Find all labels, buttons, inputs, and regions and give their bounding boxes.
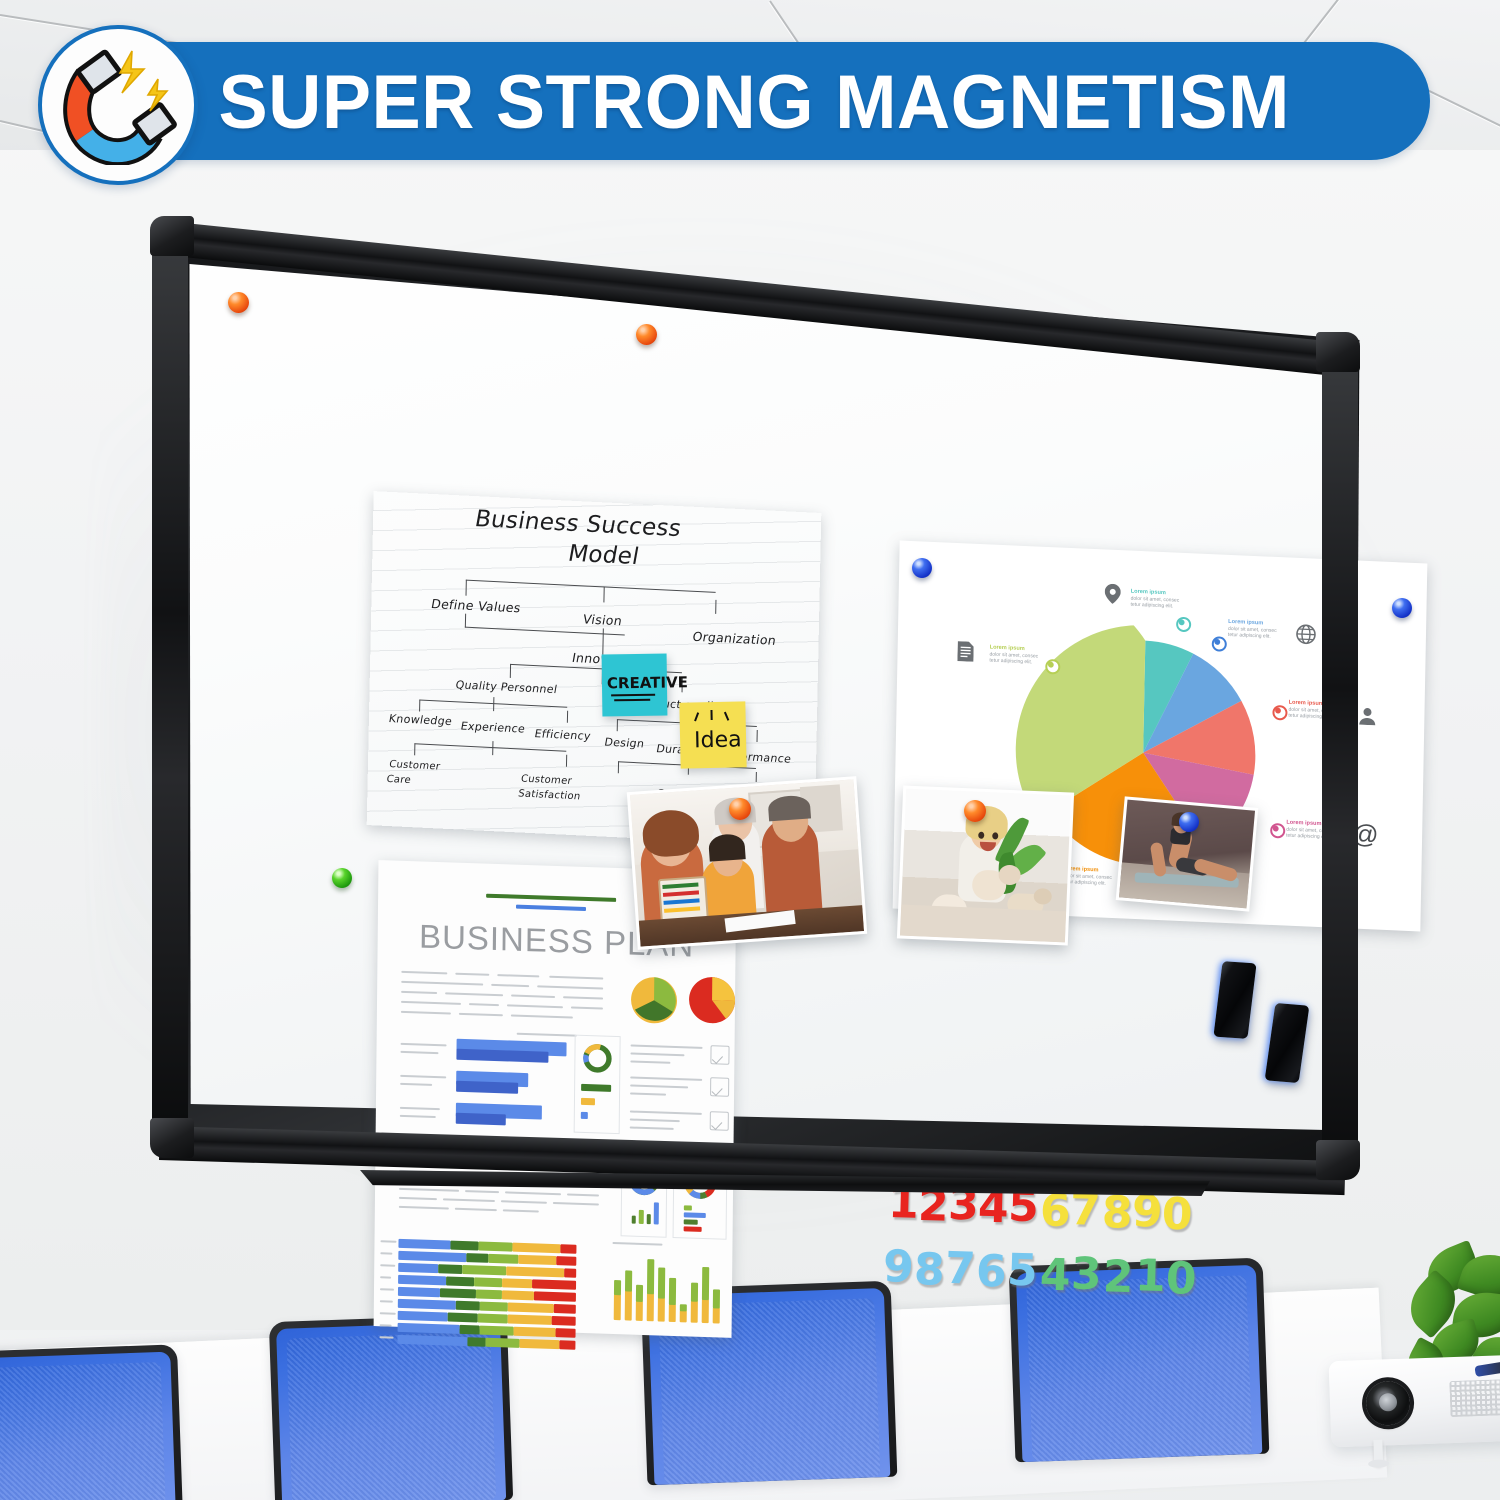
map-pin-icon <box>1105 583 1121 604</box>
idea-spark-2 <box>710 710 712 720</box>
magnetic-number-row2-5[interactable]: 4 <box>1039 1250 1071 1302</box>
projector-cable <box>1474 1356 1500 1377</box>
frame-corner-bl <box>150 1118 194 1158</box>
node-design: Design <box>603 736 645 751</box>
pie-dot-4 <box>1270 823 1285 839</box>
note-title-line2: Model <box>566 541 641 570</box>
checkbox-3[interactable] <box>710 1111 729 1131</box>
magnetic-number-row2-0[interactable]: 9 <box>882 1241 914 1293</box>
magnetic-number-row2-4[interactable]: 5 <box>1006 1245 1038 1297</box>
magnet-badge <box>38 25 198 185</box>
frame-corner-tl <box>150 216 194 256</box>
sticky-note-idea-text: Idea <box>694 727 742 753</box>
idea-spark-1 <box>694 712 699 721</box>
sticky-note-underline-2 <box>614 699 650 701</box>
node-customer-satisfaction-1: Customer Satisfaction <box>517 773 590 805</box>
plan-rule-blue <box>516 905 586 911</box>
projector-foot <box>1373 1440 1383 1466</box>
magnetic-number-row2-6[interactable]: 3 <box>1070 1248 1102 1300</box>
node-organization: Organization <box>691 629 777 648</box>
frame-corner-tr <box>1316 332 1360 372</box>
magnetic-number-row2-1[interactable]: 8 <box>913 1244 945 1296</box>
plan-pie-green <box>629 974 680 1026</box>
magnetic-number-row2-3[interactable]: 6 <box>975 1246 1007 1298</box>
pie-label-6: Lorem ipsum dolor sit amet, consec tetur… <box>989 645 1081 669</box>
node-efficiency: Efficiency <box>533 727 591 743</box>
product-marketing-image: SUPER STRONG MAGNETISM Business Success … <box>0 0 1500 1500</box>
node-knowledge: Knowledge <box>388 712 453 728</box>
magnetic-number-row2-9[interactable]: 0 <box>1165 1253 1197 1305</box>
magnetic-number-row1-9[interactable]: 0 <box>1161 1189 1193 1241</box>
frame-corner-br <box>1316 1140 1360 1180</box>
sticky-note-idea[interactable]: Idea <box>679 701 746 768</box>
magnet-orange-note-tl[interactable] <box>228 292 249 313</box>
pie-dot-1 <box>1176 617 1191 633</box>
sticky-note-creative-text: CREATIVE <box>607 673 688 692</box>
plan-donut-1 <box>581 1042 613 1075</box>
magnetic-whiteboard[interactable]: Business Success Model Define Values Vis… <box>148 214 1368 1214</box>
node-experience: Experience <box>460 720 527 736</box>
idea-spark-3 <box>724 712 729 721</box>
node-define-values: Define Values <box>430 596 522 615</box>
horseshoe-magnet-icon <box>58 43 178 165</box>
magnet-blue-pie-tl[interactable] <box>912 558 932 578</box>
magnetic-number-row2-8[interactable]: 1 <box>1134 1250 1166 1302</box>
plan-pie-red <box>687 974 738 1026</box>
magnet-green-plan[interactable] <box>332 868 352 888</box>
magnet-orange-photo-family[interactable] <box>729 798 751 820</box>
pie-dot-3 <box>1272 705 1287 721</box>
magnetic-numbers-row-2[interactable]: 9876543210 <box>737 1237 1089 1307</box>
pie-label-1: Lorem ipsum dolor sit amet, consec tetur… <box>1130 589 1222 613</box>
frame-left <box>152 228 188 1144</box>
frame-right <box>1322 340 1358 1170</box>
plan-rule-green <box>486 894 616 902</box>
plan-column-chart <box>612 1250 725 1328</box>
projector-lens-icon <box>1365 1381 1411 1427</box>
sticky-note-creative[interactable]: CREATIVE <box>602 654 668 717</box>
magnet-blue-photo-fitness[interactable] <box>1179 812 1199 832</box>
sticky-note-underline <box>611 694 655 697</box>
pie-dot-2 <box>1212 636 1227 652</box>
magnet-blue-pie-tr[interactable] <box>1392 598 1412 618</box>
node-quality-personnel: Quality Personnel <box>454 678 558 696</box>
magnet-orange-note-tr[interactable] <box>636 324 657 345</box>
magnet-orange-photo-puppies[interactable] <box>964 800 986 822</box>
checkbox-1[interactable] <box>710 1045 729 1065</box>
projector-vent <box>1449 1379 1500 1417</box>
note-title-line1: Business Success <box>473 506 684 542</box>
magnetic-number-row2-2[interactable]: 7 <box>944 1243 976 1295</box>
headline-text: SUPER STRONG MAGNETISM <box>218 50 1411 154</box>
person-icon <box>1358 707 1376 726</box>
projector <box>1329 1355 1500 1448</box>
globe-icon <box>1296 624 1316 645</box>
plan-stacked-bars <box>399 1239 589 1245</box>
node-customer-care: Customer Care <box>385 758 456 790</box>
plan-donut-card <box>574 1035 621 1135</box>
magnetic-number-row2-7[interactable]: 2 <box>1102 1251 1134 1303</box>
checkbox-2[interactable] <box>710 1077 729 1097</box>
document-icon <box>957 641 973 662</box>
node-vision: Vision <box>582 611 624 628</box>
chair-1 <box>0 1344 183 1500</box>
